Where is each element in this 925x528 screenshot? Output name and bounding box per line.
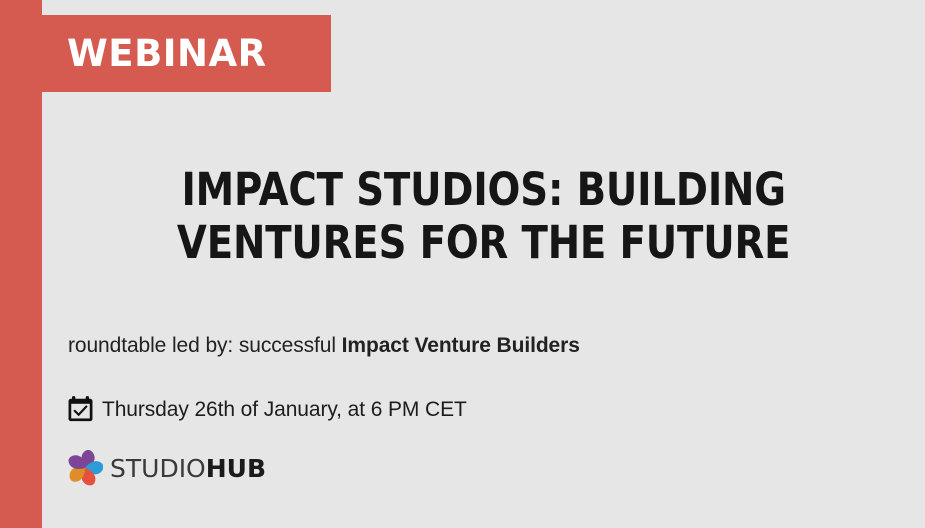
webinar-banner: WEBINAR bbox=[42, 15, 331, 92]
studiohub-pinwheel-icon bbox=[67, 450, 103, 486]
logo-word-studio: STUDIO bbox=[110, 454, 206, 483]
poster-content: IMPACT STUDIOS: BUILDING VENTURES FOR TH… bbox=[42, 92, 925, 528]
calendar-check-icon bbox=[67, 395, 94, 423]
subtitle-lead-text: roundtable led by: successful bbox=[68, 334, 342, 357]
webinar-poster: WEBINAR IMPACT STUDIOS: BUILDING VENTURE… bbox=[0, 0, 925, 528]
studiohub-wordmark: STUDIOHUB bbox=[110, 456, 266, 481]
event-date-text: Thursday 26th of January, at 6 PM CET bbox=[102, 399, 467, 420]
subtitle-highlight-text: Impact Venture Builders bbox=[342, 334, 580, 357]
event-date-row: Thursday 26th of January, at 6 PM CET bbox=[67, 395, 467, 423]
logo-word-hub: HUB bbox=[206, 454, 266, 483]
subtitle: roundtable led by: successful Impact Ven… bbox=[68, 335, 580, 356]
studiohub-logo: STUDIOHUB bbox=[67, 450, 266, 486]
left-accent-stripe bbox=[0, 0, 42, 528]
webinar-banner-label: WEBINAR bbox=[67, 35, 267, 72]
title-block: IMPACT STUDIOS: BUILDING VENTURES FOR TH… bbox=[42, 164, 925, 269]
page-title: IMPACT STUDIOS: BUILDING VENTURES FOR TH… bbox=[177, 164, 790, 269]
